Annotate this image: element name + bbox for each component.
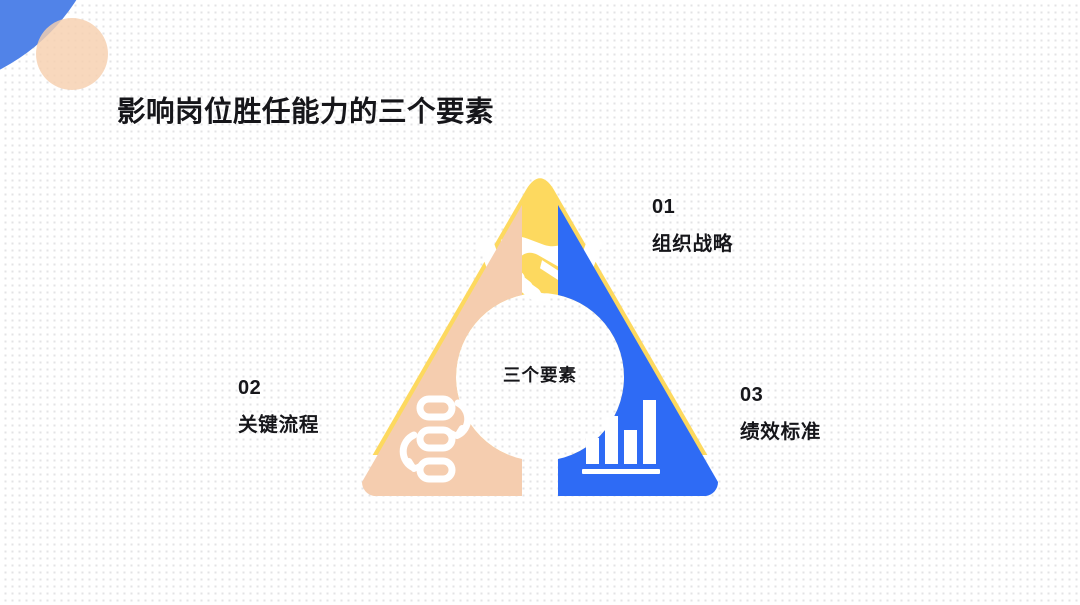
segment-02-shape[interactable] — [362, 205, 522, 496]
diagram-center-label: 三个要素 — [340, 362, 740, 387]
segment-02-key-process[interactable] — [362, 205, 522, 496]
item-02-number: 02 — [238, 378, 319, 398]
slide-canvas: 影响岗位胜任能力的三个要素 — [0, 0, 1080, 605]
item-02-label: 关键流程 — [238, 416, 319, 436]
item-01-number: 01 — [652, 197, 733, 217]
label-item-03[interactable]: 03 绩效标准 — [740, 385, 821, 443]
decorative-peach-circle — [36, 18, 108, 90]
item-01-label: 组织战略 — [652, 235, 733, 255]
label-item-02[interactable]: 02 关键流程 — [238, 378, 319, 436]
item-03-number: 03 — [740, 385, 821, 405]
item-03-label: 绩效标准 — [740, 423, 821, 443]
label-item-01[interactable]: 01 组织战略 — [652, 197, 733, 255]
page-title: 影响岗位胜任能力的三个要素 — [117, 89, 494, 130]
